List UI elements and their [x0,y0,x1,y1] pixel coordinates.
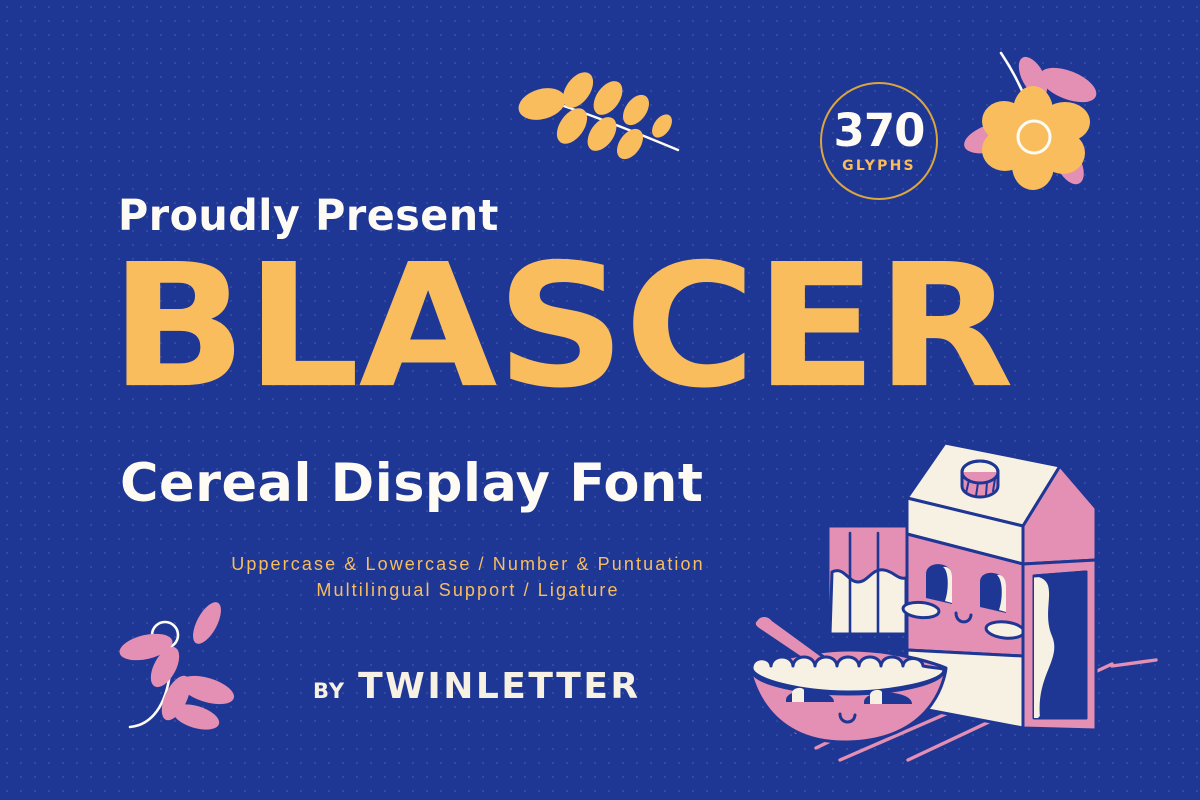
byline-brand: TWINLETTER [358,666,641,707]
glyph-count-label: GLYPHS [842,158,916,174]
glyph-count-value: 370 [834,108,925,153]
cereal-illustration [740,430,1200,800]
flower-icon [955,25,1145,205]
byline-prefix: BY [313,679,345,703]
feature-list: Uppercase & Lowercase / Number & Puntuat… [183,551,753,603]
glyph-count-badge: 370 GLYPHS [820,82,938,200]
page-title: BLASCER [110,244,1013,411]
sprig-icon [108,605,268,780]
feature-line-2: Multilingual Support / Ligature [183,577,753,603]
branch-icon [520,68,690,168]
poster-canvas: Proudly Present BLASCER Cereal Display F… [0,0,1200,800]
byline: BY TWINLETTER [313,666,641,707]
subtitle-text: Cereal Display Font [120,453,703,514]
feature-line-1: Uppercase & Lowercase / Number & Puntuat… [183,551,753,577]
